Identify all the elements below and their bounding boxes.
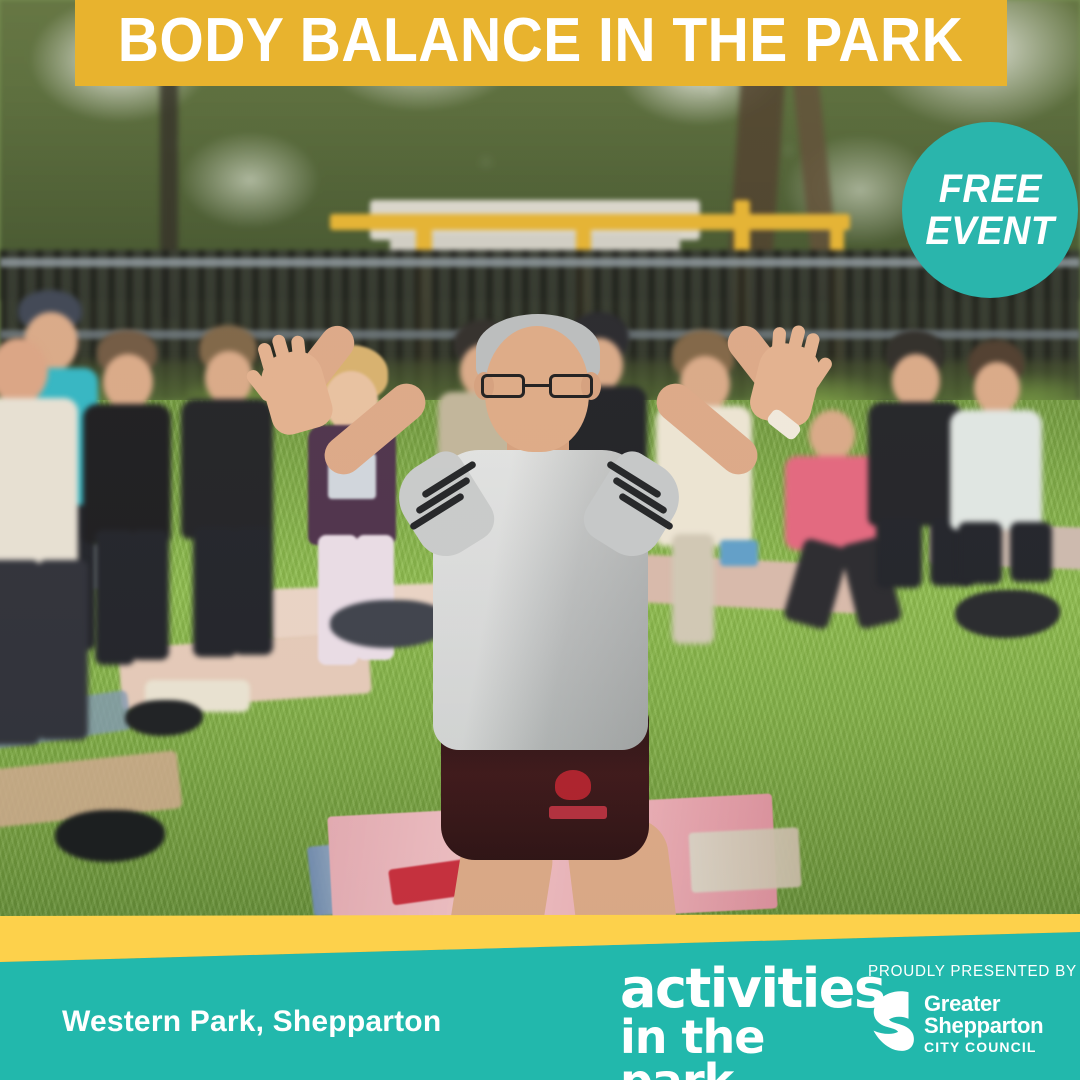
venue-label: Western Park, Shepparton (62, 1005, 441, 1039)
brand-logo-line-1: activities (620, 963, 842, 1015)
s-swoosh-icon (868, 990, 914, 1057)
council-line-3: CITY COUNCIL (924, 1040, 1043, 1054)
council-logo: Greater Shepparton CITY COUNCIL (868, 990, 1050, 1057)
activities-in-the-park-logo: activities in the park (620, 963, 842, 1080)
brand-logo-line-2: in the park (620, 1015, 842, 1080)
page-title: BODY BALANCE IN THE PARK (118, 10, 964, 76)
council-line-1: Greater (924, 993, 1043, 1015)
council-line-2: Shepparton (924, 1015, 1043, 1037)
instructor-figure (255, 300, 825, 920)
presented-by-block: PROUDLY PRESENTED BY Greater Shepparton … (868, 963, 1050, 1057)
event-poster: BODY BALANCE IN THE PARK FREE EVENT West… (0, 0, 1080, 1080)
free-event-badge: FREE EVENT (902, 122, 1078, 298)
badge-line-1: FREE (938, 168, 1041, 210)
presented-by-label: PROUDLY PRESENTED BY (868, 963, 1041, 981)
participant-figure (940, 340, 1070, 570)
eyeglasses (481, 374, 593, 398)
council-wordmark: Greater Shepparton CITY COUNCIL (924, 993, 1043, 1054)
participant-figure (75, 330, 190, 660)
badge-line-2: EVENT (925, 210, 1054, 252)
title-banner: BODY BALANCE IN THE PARK (75, 0, 1007, 86)
